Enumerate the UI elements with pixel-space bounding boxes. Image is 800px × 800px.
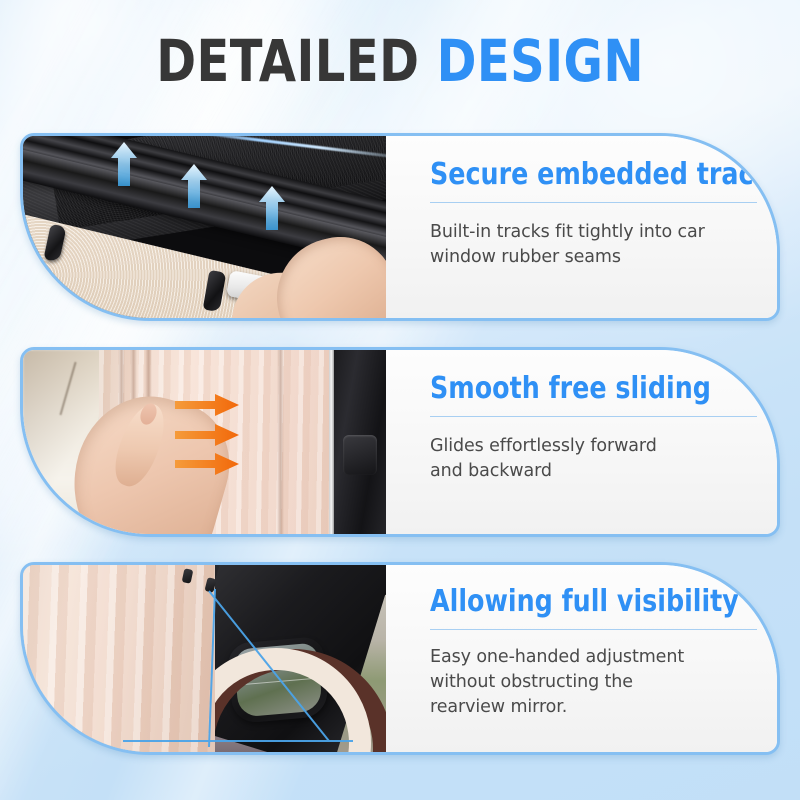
feature-heading: Smooth free sliding: [430, 372, 737, 405]
right-arrow-icon-3: [175, 453, 239, 475]
infographic-page: DETAILED DESIGN: [0, 0, 800, 800]
page-title-space: [419, 27, 436, 95]
feature-body: Built-in tracks fit tightly into car win…: [430, 220, 780, 270]
pink-curtain-open: [23, 565, 215, 752]
page-title-wrap: DETAILED DESIGN: [0, 30, 800, 92]
door-chrome-trim: [329, 350, 334, 534]
feature-card-allowing-full-visibility[interactable]: Allowing full visibility Easy one-handed…: [20, 562, 780, 755]
heading-divider: [430, 629, 757, 630]
page-title-part-2: DESIGN: [436, 27, 643, 95]
feature-text-smooth-free-sliding: Smooth free sliding Glides effortlessly …: [386, 350, 780, 534]
right-arrow-icon-2: [175, 424, 239, 446]
feature-card-smooth-free-sliding[interactable]: Smooth free sliding Glides effortlessly …: [20, 347, 780, 537]
door-control-button: [343, 435, 377, 475]
up-arrow-icon-3: [259, 186, 285, 230]
feature-heading: Allowing full visibility: [430, 585, 739, 618]
up-arrow-icon-2: [181, 164, 207, 208]
feature-body: Glides effortlessly forward and backward: [430, 434, 757, 484]
heading-divider: [430, 416, 757, 417]
feature-image-secure-embedded-track: [23, 136, 386, 318]
feature-text-allowing-full-visibility: Allowing full visibility Easy one-handed…: [386, 565, 780, 752]
feature-card-secure-embedded-track[interactable]: Secure embedded track Built-in tracks fi…: [20, 133, 780, 321]
heading-divider: [430, 202, 757, 203]
feature-heading: Secure embedded track: [430, 158, 770, 191]
page-title-part-1: DETAILED: [156, 27, 419, 95]
up-arrow-icon-1: [111, 142, 137, 186]
feature-image-smooth-free-sliding: [23, 350, 386, 534]
curtain-fold-4: [277, 350, 284, 534]
feature-image-allowing-full-visibility: [23, 565, 386, 752]
feature-text-secure-embedded-track: Secure embedded track Built-in tracks fi…: [386, 136, 780, 318]
right-arrow-icon-1: [175, 394, 239, 416]
page-title: DETAILED DESIGN: [156, 30, 644, 92]
feature-body: Easy one-handed adjustment without obstr…: [430, 645, 759, 720]
